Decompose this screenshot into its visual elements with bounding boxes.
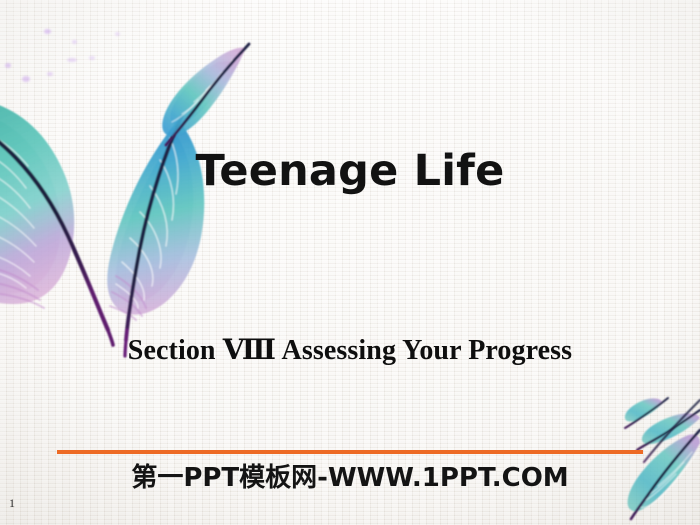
feather-corner-quill-extra bbox=[644, 400, 700, 462]
speckle-decoration bbox=[22, 76, 30, 82]
slide-subtitle: Section Ⅷ Assessing Your Progress bbox=[0, 337, 700, 365]
feather-large-left bbox=[0, 99, 113, 345]
speckle-decoration bbox=[72, 40, 77, 44]
speckle-decoration bbox=[47, 72, 53, 76]
speckle-decoration bbox=[89, 56, 95, 60]
speckle-decoration bbox=[5, 63, 11, 68]
feather-small-top bbox=[162, 44, 249, 145]
speckle-decoration bbox=[115, 32, 120, 36]
speckle-decoration bbox=[67, 58, 77, 62]
divider-line bbox=[57, 450, 643, 454]
feather-artwork bbox=[0, 0, 700, 525]
background-vignette bbox=[0, 0, 700, 525]
paper-texture-horizontal bbox=[0, 0, 700, 525]
slide-background bbox=[0, 0, 700, 525]
slide-title: Teenage Life bbox=[0, 150, 700, 193]
feather-corner-bottom-right-1 bbox=[625, 398, 668, 428]
presentation-slide: Teenage Life Section Ⅷ Assessing Your Pr… bbox=[0, 0, 700, 525]
feather-corner-bottom-right-2 bbox=[637, 410, 700, 450]
paper-texture-dashes bbox=[0, 0, 700, 525]
speckle-decoration bbox=[44, 29, 51, 34]
page-number: 1 bbox=[9, 496, 15, 511]
footer-watermark: 第一PPT模板网-WWW.1PPT.COM bbox=[0, 463, 700, 494]
